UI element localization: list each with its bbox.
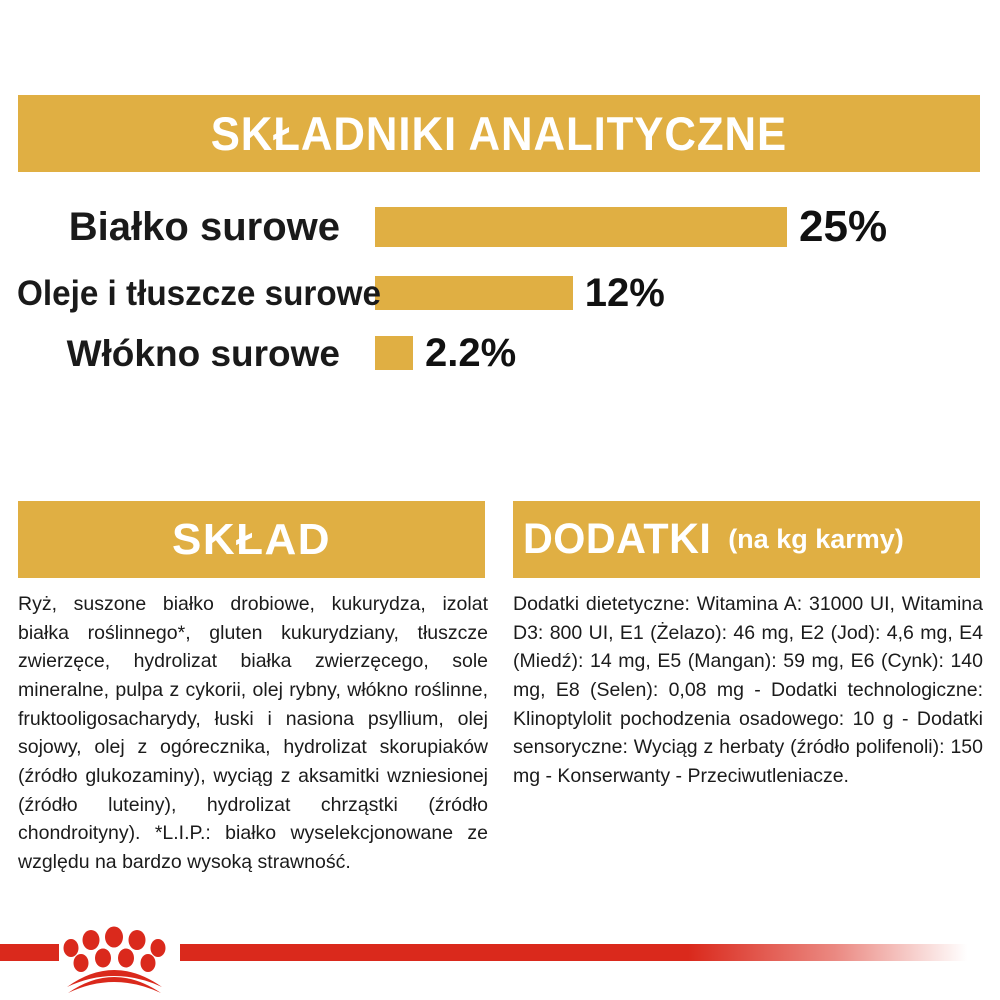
- footer: [0, 925, 1000, 1000]
- chart-bar-fibre: [375, 336, 413, 370]
- chart-track-fat: 12%: [375, 273, 665, 313]
- chart-row-protein: Białko surowe 25%: [0, 196, 1000, 258]
- chart-value-fat: 12%: [585, 273, 665, 313]
- analytical-constituents-chart: Białko surowe 25% Oleje i tłuszcze surow…: [0, 196, 1000, 376]
- analytical-constituents-title: SKŁADNIKI ANALITYCZNE: [211, 110, 787, 157]
- chart-row-fibre: Włókno surowe 2.2%: [0, 324, 1000, 382]
- composition-text: Ryż, suszone białko drobiowe, kukurydza,…: [18, 590, 488, 877]
- additives-title: DODATKI: [523, 518, 711, 561]
- composition-title: SKŁAD: [172, 518, 331, 562]
- product-info-panel: SKŁADNIKI ANALITYCZNE Białko surowe 25% …: [0, 0, 1000, 1000]
- chart-bar-protein: [375, 207, 787, 247]
- royal-canin-crown-logo-icon: [57, 925, 181, 995]
- chart-bar-fat: [375, 276, 573, 310]
- chart-track-fibre: 2.2%: [375, 333, 516, 373]
- additives-banner: DODATKI (na kg karmy): [513, 501, 980, 578]
- chart-value-fibre: 2.2%: [425, 333, 516, 373]
- footer-rule-left: [0, 944, 59, 961]
- chart-label-protein: Białko surowe: [0, 207, 340, 247]
- analytical-constituents-banner: SKŁADNIKI ANALITYCZNE: [18, 95, 980, 172]
- composition-banner: SKŁAD: [18, 501, 485, 578]
- chart-track-protein: 25%: [375, 205, 887, 249]
- additives-text: Dodatki dietetyczne: Witamina A: 31000 U…: [513, 590, 983, 791]
- footer-rule-right: [180, 944, 1000, 961]
- chart-row-fat: Oleje i tłuszcze surowe 12%: [0, 264, 1000, 322]
- chart-value-protein: 25%: [799, 205, 887, 249]
- chart-label-fibre: Włókno surowe: [0, 335, 340, 372]
- additives-subtitle: (na kg karmy): [728, 526, 904, 553]
- chart-label-fat: Oleje i tłuszcze surowe: [17, 276, 340, 311]
